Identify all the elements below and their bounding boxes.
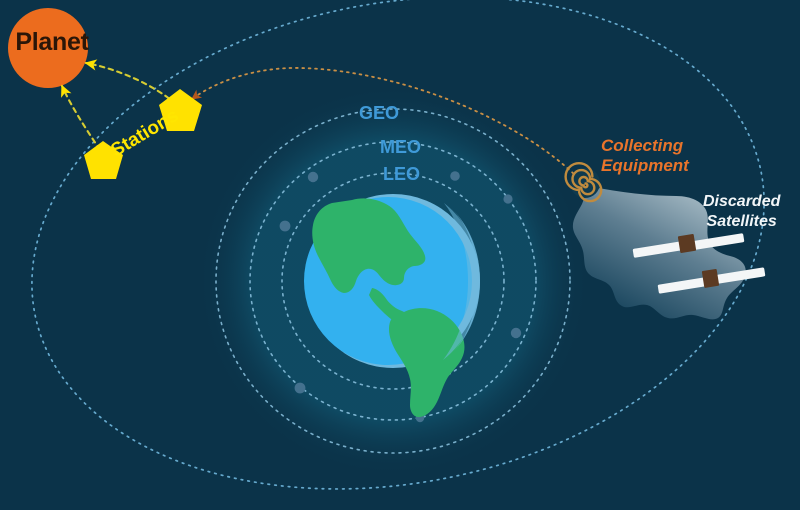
stations-group: [84, 89, 202, 179]
satellite-dot: [308, 172, 318, 182]
satellite-dot: [295, 383, 306, 394]
satellite-dot: [280, 221, 291, 232]
satellite-dot: [503, 194, 512, 203]
debris-cloud-group: [573, 186, 766, 319]
supply-arrow-upper: [86, 63, 176, 104]
satellite-dot: [450, 171, 460, 181]
diagram-canvas: Planet Stations GEO MEO LEO Collecting E…: [0, 0, 800, 510]
planet-circle[interactable]: [8, 8, 88, 88]
orbital-diagram-svg: [0, 0, 800, 510]
supply-arrows: [62, 63, 176, 150]
supply-arrow-lower: [62, 86, 100, 150]
satellite-dot: [511, 328, 521, 338]
